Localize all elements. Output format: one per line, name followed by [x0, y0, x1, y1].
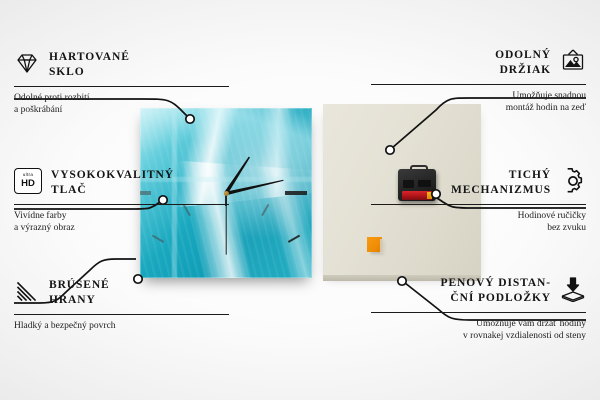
feature-title: ODOLNÝ DRŽIAK: [495, 48, 551, 78]
feature-title: VYSOKOKVALITNÝ TLAČ: [51, 168, 174, 198]
feature-divider: [14, 204, 229, 205]
ultra-hd-big-label: HD: [21, 179, 35, 189]
feature-divider: [371, 204, 586, 205]
feature-foam-spacers: PENOVÝ DISTAN- ČNÍ PODLOŽKY Umožňuje vám…: [371, 276, 586, 342]
feature-divider: [14, 86, 229, 87]
hour-tick-3: [285, 191, 307, 195]
ultra-hd-icon: ultra HD: [14, 168, 42, 194]
feature-title: PENOVÝ DISTAN- ČNÍ PODLOŽKY: [441, 276, 551, 306]
diamond-icon: [14, 50, 40, 76]
wall-frame-icon: [560, 48, 586, 74]
feature-tempered-glass: HARTOVANÉ SKLO Odolné proti rozbití a po…: [14, 50, 229, 116]
product-infographic: HARTOVANÉ SKLO Odolné proti rozbití a po…: [0, 0, 600, 400]
feature-title: TICHÝ MECHANIZMUS: [451, 168, 551, 198]
press-down-pad-icon: [560, 276, 586, 302]
feature-polished-edges: BRÚSENÉ HRANY Hladký a bezpečný povrch: [14, 278, 229, 332]
feature-title: HARTOVANÉ SKLO: [49, 50, 130, 80]
feature-description: Umožňuje vám držať hodiny v rovnakej vzd…: [371, 318, 586, 342]
feature-high-quality-print: ultra HD VYSOKOKVALITNÝ TLAČ Vivídne far…: [14, 168, 229, 234]
feature-description: Hladký a bezpečný povrch: [14, 320, 229, 332]
feature-silent-mechanism: TICHÝ MECHANIZMUS Hodinové ručičky bez z…: [371, 168, 586, 234]
feature-divider: [371, 84, 586, 85]
feature-title: BRÚSENÉ HRANY: [49, 278, 110, 308]
feature-description: Umožňuje snadnou montáž hodin na zeď: [371, 90, 586, 114]
foam-spacer-pad: [367, 237, 382, 252]
feature-description: Hodinové ručičky bez zvuku: [371, 210, 586, 234]
feature-divider: [14, 314, 229, 315]
gear-icon: [560, 168, 586, 194]
feature-description: Vivídne farby a výrazný obraz: [14, 210, 229, 234]
feature-durable-holder: ODOLNÝ DRŽIAK Umožňuje snadnou montáž ho…: [371, 48, 586, 114]
polished-edge-icon: [14, 278, 40, 304]
feature-divider: [371, 312, 586, 313]
feature-description: Odolné proti rozbití a poškrábání: [14, 92, 229, 116]
